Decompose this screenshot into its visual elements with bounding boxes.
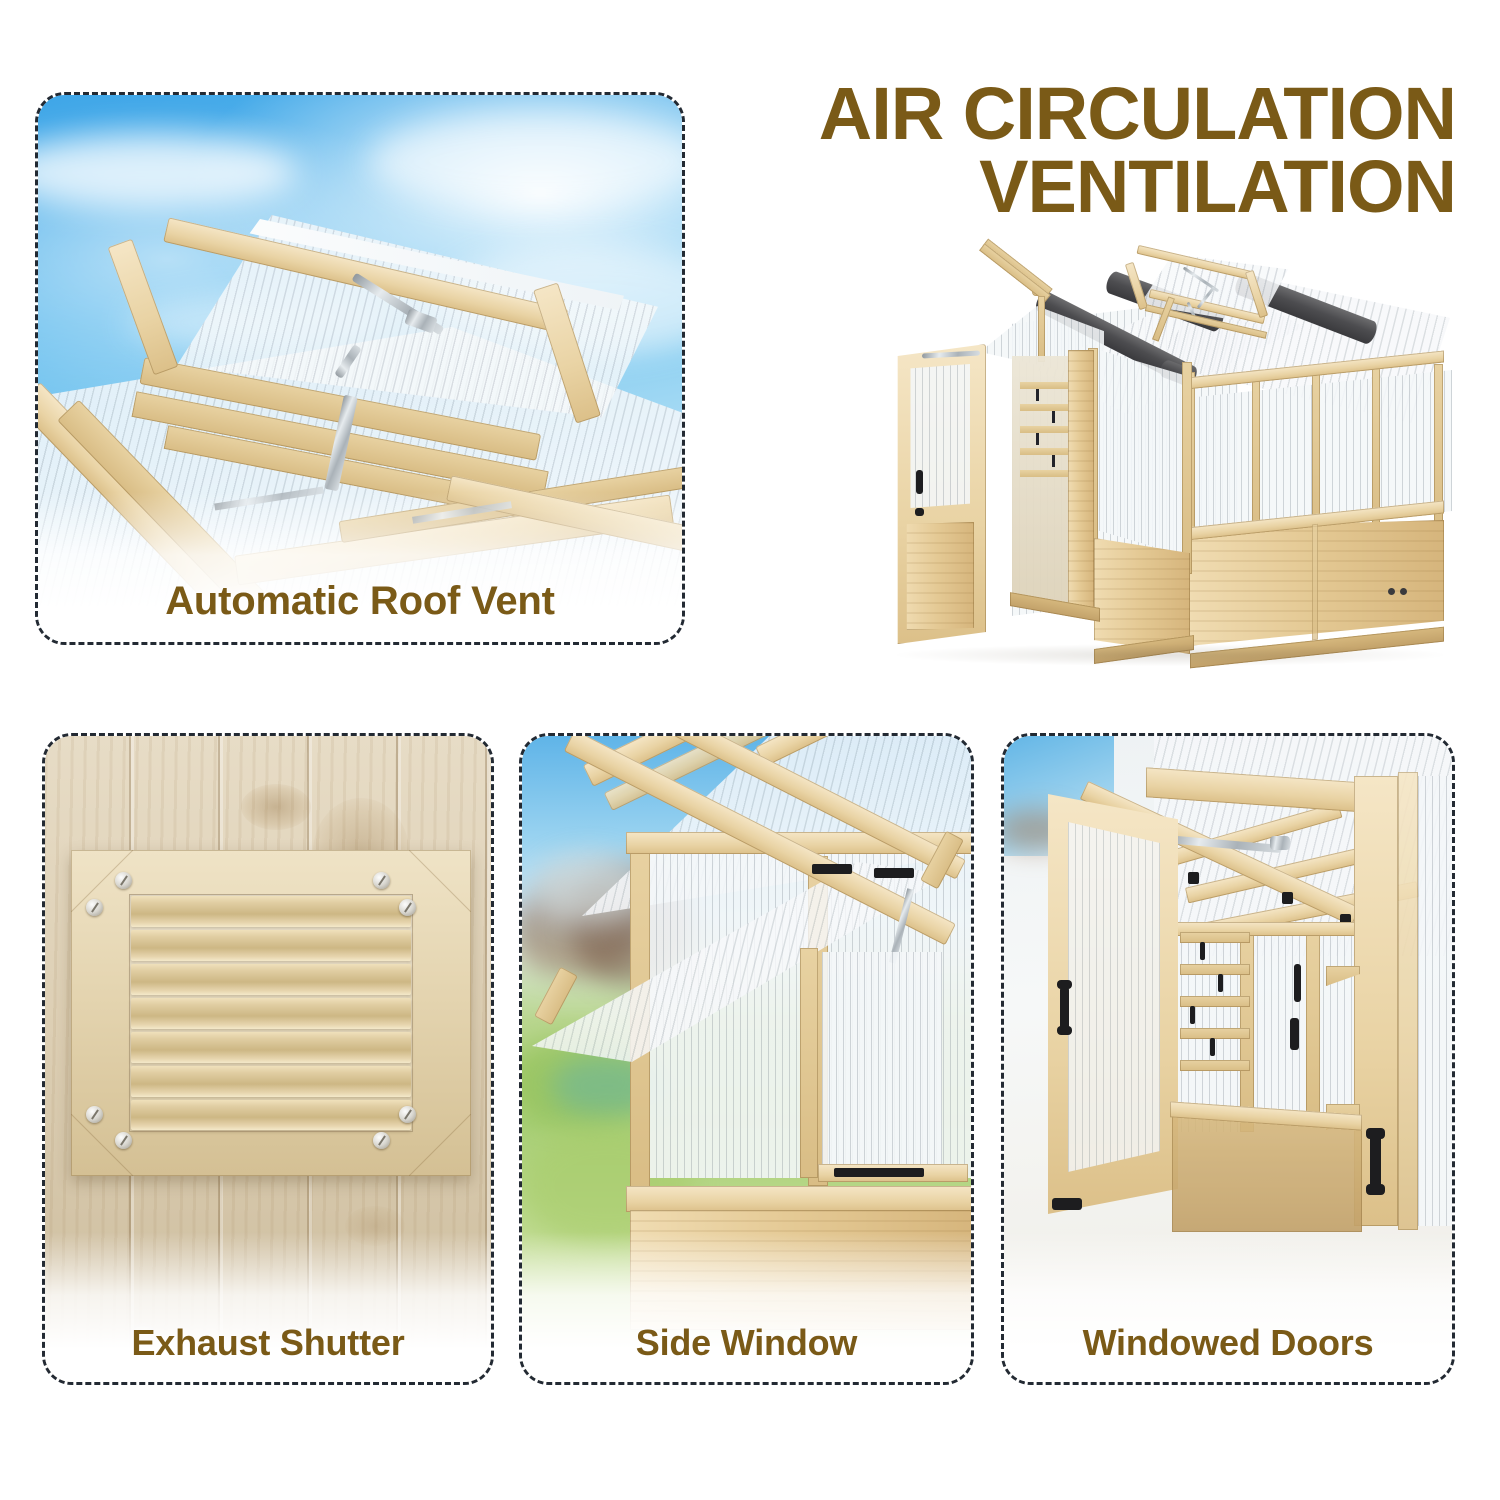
roof-vent-photo — [38, 95, 682, 642]
infographic-canvas: AIR CIRCULATION VENTILATION — [0, 0, 1500, 1500]
headline-line-2: VENTILATION — [816, 151, 1456, 224]
headline-line-1: AIR CIRCULATION — [819, 72, 1456, 155]
caption-roof-vent: Automatic Roof Vent — [38, 579, 682, 624]
feature-panel-windowed-doors: Windowed Doors — [1001, 733, 1455, 1385]
caption-exhaust-shutter: Exhaust Shutter — [45, 1322, 491, 1364]
caption-side-window: Side Window — [522, 1322, 971, 1364]
page-title: AIR CIRCULATION VENTILATION — [816, 78, 1456, 223]
feature-panel-side-window: Side Window — [519, 733, 974, 1385]
windowed-doors-photo — [1004, 736, 1452, 1382]
side-window-photo — [522, 736, 971, 1382]
hero-greenhouse-image — [860, 252, 1485, 702]
feature-panel-exhaust-shutter: Exhaust Shutter — [42, 733, 494, 1385]
exhaust-shutter-photo — [45, 736, 491, 1382]
caption-windowed-doors: Windowed Doors — [1004, 1322, 1452, 1364]
feature-panel-roof-vent: Automatic Roof Vent — [35, 92, 685, 645]
